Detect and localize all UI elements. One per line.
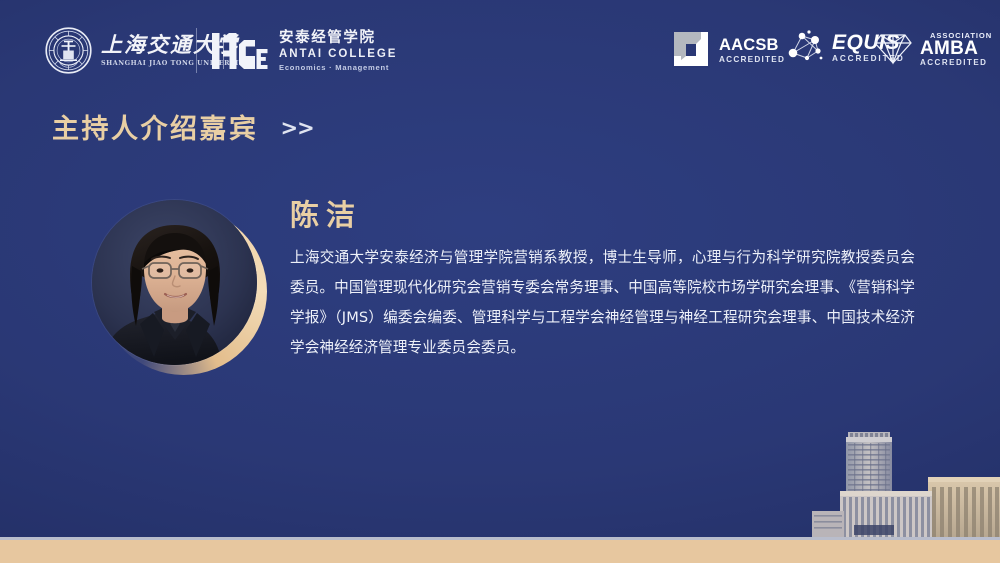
acem-logo-lockup: 安泰经管学院 ANTAI COLLEGE Economics · Managem… bbox=[211, 29, 397, 73]
bottom-accent-bar bbox=[0, 540, 1000, 563]
sjtu-seal-icon bbox=[45, 27, 92, 74]
aacsb-logo-icon bbox=[672, 30, 710, 73]
section-title: 主持人介绍嘉宾 bbox=[52, 107, 259, 146]
aacsb-name: AACSB bbox=[719, 37, 785, 55]
amba-text: ASSOCIATION AMBA ACCREDITED bbox=[920, 32, 992, 68]
antai-building-illustration bbox=[810, 425, 1000, 540]
speaker-bio: 上海交通大学安泰经济与管理学院营销系教授，博士生导师，心理与行为科学研究院教授委… bbox=[290, 243, 915, 363]
equis-logo-icon bbox=[785, 27, 825, 70]
speaker-name: 陈洁 bbox=[290, 198, 362, 233]
acem-wordmark: 安泰经管学院 ANTAI COLLEGE Economics · Managem… bbox=[279, 30, 397, 72]
speaker-portrait-wrapper bbox=[92, 200, 267, 375]
amba-name: AMBA bbox=[920, 39, 992, 58]
accreditation-aacsb: AACSB ACCREDITED bbox=[672, 30, 785, 73]
aacsb-text: AACSB ACCREDITED bbox=[719, 37, 785, 65]
amba-logo-icon bbox=[872, 28, 914, 71]
logo-divider bbox=[196, 28, 197, 73]
accreditation-amba: ASSOCIATION AMBA ACCREDITED bbox=[872, 28, 992, 71]
aacsb-sub: ACCREDITED bbox=[719, 55, 785, 65]
presentation-slide: 上海交通大学 SHANGHAI JIAO TONG UNIVERSITY bbox=[0, 0, 1000, 563]
speaker-portrait bbox=[92, 200, 257, 365]
chevron-right-icon: >> bbox=[281, 116, 314, 140]
acem-logo-icon bbox=[211, 29, 269, 73]
amba-sub: ACCREDITED bbox=[920, 59, 992, 67]
slide-header: 上海交通大学 SHANGHAI JIAO TONG UNIVERSITY bbox=[0, 0, 1000, 92]
acem-name-en: ANTAI COLLEGE bbox=[279, 48, 397, 62]
acem-tagline-en: Economics · Management bbox=[279, 63, 397, 72]
acem-name-cn: 安泰经管学院 bbox=[279, 30, 397, 47]
section-title-row: 主持人介绍嘉宾 >> bbox=[52, 107, 314, 146]
